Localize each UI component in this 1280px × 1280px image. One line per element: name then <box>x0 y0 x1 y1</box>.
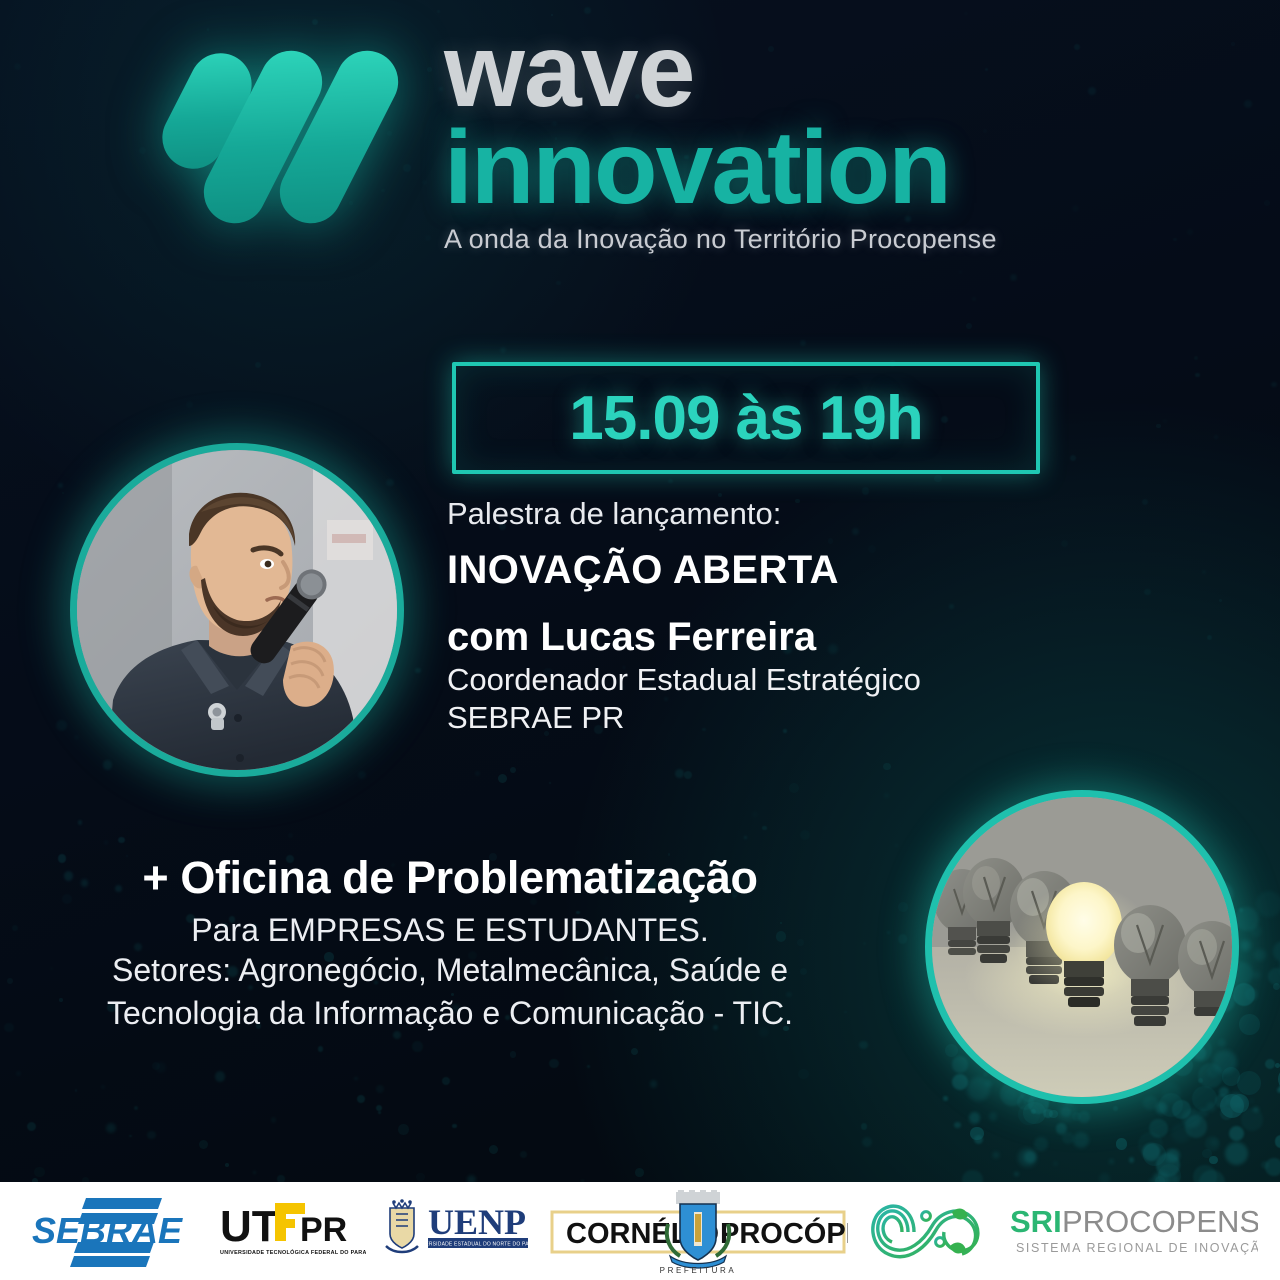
bokeh-dot <box>1215 1094 1229 1108</box>
bokeh-dot <box>1170 1175 1178 1182</box>
bokeh-dot <box>1014 1172 1018 1176</box>
bokeh-dot <box>78 820 83 825</box>
bokeh-dot <box>1158 1164 1181 1182</box>
bokeh-dot <box>1192 1086 1217 1111</box>
bokeh-dot <box>1202 1149 1211 1158</box>
bokeh-dot <box>744 836 747 839</box>
procopense-text: PROCOPENSE <box>1062 1204 1258 1239</box>
talk-speaker: com Lucas Ferreira <box>447 615 1087 660</box>
bokeh-dot <box>549 782 552 785</box>
bokeh-dot <box>1018 1148 1037 1167</box>
bokeh-dot <box>1017 1094 1033 1110</box>
bokeh-dot <box>952 1056 969 1073</box>
bokeh-dot <box>1239 1014 1260 1035</box>
bokeh-dot <box>415 668 421 674</box>
bokeh-dot <box>1256 891 1280 917</box>
bokeh-dot <box>1199 1170 1225 1182</box>
bokeh-dot <box>798 1069 809 1080</box>
bokeh-dot <box>475 771 480 776</box>
bokeh-dot <box>1220 1107 1233 1120</box>
bokeh-dot <box>1249 1099 1253 1103</box>
bokeh-dot <box>1236 1101 1244 1109</box>
prefeitura-caption: PREFEITURA <box>660 1266 737 1275</box>
bokeh-dot <box>631 1048 638 1055</box>
bokeh-dot <box>1239 908 1244 913</box>
cornelio-procopio-logo-icon: CORNÉLIO PROCÓPIO PREFEITURA <box>548 1190 848 1276</box>
talk-role-line2: SEBRAE PR <box>447 700 1087 737</box>
bokeh-dot <box>1268 968 1280 985</box>
bokeh-dot <box>1187 229 1193 235</box>
brand-header: wave innovation A onda da Inovação no Te… <box>168 22 1098 277</box>
bokeh-dot <box>1222 1067 1241 1086</box>
workshop-title: + Oficina de Problematização <box>0 852 900 904</box>
logo-utfpr: UT PR UNIVERSIDADE TECNOLÓGICA FEDERAL D… <box>218 1197 366 1265</box>
bokeh-dot <box>1182 1109 1201 1128</box>
bokeh-dot <box>1142 1143 1160 1161</box>
bokeh-dot <box>1277 1087 1280 1093</box>
bokeh-dot <box>225 1163 229 1167</box>
bokeh-dot <box>895 844 898 847</box>
bokeh-dot <box>1207 1066 1219 1078</box>
bokeh-dot <box>358 771 366 779</box>
bokeh-dot <box>675 769 684 778</box>
bokeh-dot <box>139 147 146 154</box>
bokeh-dot <box>386 479 394 487</box>
uenp-logo-text: UENP <box>428 1202 526 1242</box>
bokeh-dot <box>467 1175 476 1182</box>
bokeh-dot <box>288 833 293 838</box>
bokeh-dot <box>500 347 506 353</box>
uenp-logo-icon: UENP UNIVERSIDADE ESTADUAL DO NORTE DO P… <box>384 1198 532 1260</box>
bokeh-dot <box>1265 1158 1280 1176</box>
bokeh-dot <box>1273 941 1280 962</box>
bokeh-dot <box>884 793 889 798</box>
sebrae-logo-icon: SEBRAE <box>22 1196 192 1268</box>
bokeh-dot <box>118 837 124 843</box>
bokeh-dot <box>156 1062 167 1073</box>
bokeh-dot <box>17 1072 20 1075</box>
bokeh-dot <box>1214 435 1218 439</box>
bokeh-dot <box>650 1080 658 1088</box>
bokeh-dot <box>378 1111 381 1114</box>
talk-block: Palestra de lançamento: INOVAÇÃO ABERTA … <box>447 495 1087 737</box>
bokeh-dot <box>520 1151 527 1158</box>
bokeh-dot <box>134 1106 138 1110</box>
bokeh-dot <box>1235 907 1259 931</box>
bokeh-dot <box>1202 570 1206 574</box>
bokeh-dot <box>255 362 261 368</box>
bokeh-dot <box>1004 1089 1016 1101</box>
bokeh-dot <box>943 1096 947 1100</box>
bokeh-dot <box>1138 1132 1163 1157</box>
bokeh-dot <box>972 297 975 300</box>
bokeh-dot <box>199 1140 209 1150</box>
bokeh-dot <box>1078 1111 1091 1124</box>
brand-tagline: A onda da Inovação no Território Procope… <box>444 224 1104 255</box>
bokeh-dot <box>354 1077 358 1081</box>
bokeh-dot <box>587 1065 590 1068</box>
bokeh-dot <box>1070 455 1076 461</box>
bokeh-dot <box>357 1095 365 1103</box>
bokeh-dot <box>1057 1103 1076 1122</box>
bokeh-dot <box>1024 1151 1036 1163</box>
bokeh-dot <box>14 63 21 70</box>
bokeh-dot <box>416 1173 424 1181</box>
bokeh-dot <box>1237 1071 1261 1095</box>
bokeh-dot <box>1171 1123 1190 1142</box>
bokeh-dot <box>27 1122 37 1132</box>
sri-text: SRI <box>1010 1204 1062 1239</box>
bokeh-dot <box>398 1124 408 1134</box>
bokeh-dot <box>789 783 799 793</box>
bokeh-dot <box>376 1105 382 1111</box>
talk-pre-label: Palestra de lançamento: <box>447 495 1087 534</box>
bokeh-dot <box>1198 1078 1203 1083</box>
utfpr-logo-pr: PR <box>300 1211 347 1249</box>
bokeh-dot <box>1061 1107 1071 1117</box>
bokeh-dot <box>1173 238 1176 241</box>
logo-cornelio-procopio: CORNÉLIO PROCÓPIO PREFEITURA <box>548 1190 848 1276</box>
bokeh-dot <box>954 1122 961 1129</box>
speaker-photo <box>70 443 404 777</box>
bokeh-dot <box>966 323 972 329</box>
bokeh-dot <box>1109 1159 1114 1164</box>
bokeh-dot <box>452 1124 457 1129</box>
bokeh-dot <box>635 1168 644 1177</box>
bokeh-dot <box>962 1170 983 1182</box>
date-badge: 15.09 às 19h <box>452 362 1040 474</box>
bokeh-dot <box>1156 424 1161 429</box>
workshop-audience: Para EMPRESAS E ESTUDANTES. <box>0 912 900 949</box>
bokeh-dot <box>215 1071 225 1081</box>
bokeh-dot <box>58 483 62 487</box>
bokeh-dot <box>1213 1050 1237 1074</box>
sri-procopense-logo-icon: SRI PROCOPENSE SISTEMA REGIONAL DE INOVA… <box>866 1196 1258 1268</box>
bokeh-dot <box>1062 1132 1074 1144</box>
bokeh-dot <box>1219 1087 1229 1097</box>
bokeh-dot <box>1073 1132 1089 1148</box>
bokeh-dot <box>104 840 109 845</box>
bokeh-dot <box>1199 1108 1208 1117</box>
bokeh-dot <box>1207 635 1212 640</box>
sri-caption: SISTEMA REGIONAL DE INOVAÇÃO <box>1016 1241 1258 1255</box>
bokeh-dot <box>800 830 810 840</box>
bokeh-dot <box>277 1175 285 1182</box>
bokeh-dot <box>1129 1157 1134 1162</box>
sebrae-logo-text: SEBRAE <box>32 1210 183 1251</box>
bokeh-dot <box>34 1167 45 1178</box>
bokeh-dot <box>1194 356 1198 360</box>
bokeh-dot <box>1265 1059 1275 1069</box>
bokeh-dot <box>762 826 767 831</box>
bokeh-dot <box>1271 382 1276 387</box>
bokeh-dot <box>1275 1135 1280 1147</box>
bokeh-dot <box>489 1145 498 1154</box>
bokeh-dot <box>883 763 890 770</box>
bokeh-dot <box>1233 983 1256 1006</box>
bokeh-dot <box>1023 1099 1029 1105</box>
utfpr-logo-caption: UNIVERSIDADE TECNOLÓGICA FEDERAL DO PARA… <box>220 1248 366 1256</box>
bokeh-dot <box>1264 200 1270 206</box>
bokeh-dot <box>376 1085 384 1093</box>
lightbulbs-photo <box>925 790 1239 1104</box>
bokeh-dot <box>1185 1115 1208 1138</box>
bokeh-dot <box>1198 1063 1223 1088</box>
bokeh-dot <box>1218 1039 1226 1047</box>
bokeh-dot <box>859 1041 868 1050</box>
bokeh-dot <box>1156 1102 1167 1113</box>
bokeh-dot <box>1252 971 1260 979</box>
bokeh-dot <box>1230 1094 1249 1113</box>
bokeh-dot <box>1211 1140 1216 1145</box>
procopio-text: PROCÓPIO <box>720 1216 848 1250</box>
bokeh-dot <box>1209 1156 1217 1164</box>
wordmark: wave innovation A onda da Inovação no Te… <box>444 22 1104 255</box>
bokeh-dot <box>152 1062 160 1070</box>
bokeh-dot <box>1163 419 1167 423</box>
bokeh-dot <box>993 1152 999 1158</box>
bokeh-dot <box>1244 100 1251 107</box>
bokeh-dot <box>1023 1102 1046 1125</box>
bokeh-dot <box>1099 1173 1110 1182</box>
bokeh-dot <box>1241 1108 1263 1130</box>
bokeh-dot <box>56 720 67 731</box>
bokeh-dot <box>945 1044 958 1057</box>
bokeh-dot <box>271 1117 276 1122</box>
bokeh-dot <box>1144 589 1150 595</box>
bokeh-dot <box>965 12 967 14</box>
bokeh-dot <box>1056 1123 1066 1133</box>
bokeh-dot <box>983 1072 988 1077</box>
bokeh-dot <box>1273 983 1280 990</box>
bokeh-dot <box>1143 1096 1157 1110</box>
bokeh-dot <box>1275 1063 1280 1069</box>
poster-artboard: wave innovation A onda da Inovação no Te… <box>0 0 1280 1182</box>
bokeh-dot <box>147 1131 155 1139</box>
bokeh-dot <box>1018 1104 1040 1126</box>
bokeh-dot <box>106 1123 116 1133</box>
bokeh-dot <box>1162 1083 1181 1102</box>
bokeh-dot <box>1049 1110 1057 1118</box>
bokeh-dot <box>1240 940 1251 951</box>
bokeh-dot <box>1172 1100 1191 1119</box>
bokeh-dot <box>129 1135 131 1137</box>
uenp-logo-caption: UNIVERSIDADE ESTADUAL DO NORTE DO PARANÁ <box>413 1241 532 1248</box>
bokeh-dot <box>684 771 692 779</box>
bokeh-dot <box>1205 1136 1220 1151</box>
bokeh-dot <box>1195 373 1199 377</box>
logo-sri-procopense: SRI PROCOPENSE SISTEMA REGIONAL DE INOVA… <box>866 1196 1258 1268</box>
lightbulbs-illustration <box>932 797 1232 1097</box>
bokeh-dot <box>186 401 193 408</box>
logo-uenp: UENP UNIVERSIDADE ESTADUAL DO NORTE DO P… <box>384 1198 532 1260</box>
bokeh-dot <box>74 735 79 740</box>
bokeh-dot <box>1034 1137 1048 1151</box>
bokeh-dot <box>752 811 758 817</box>
bokeh-dot <box>1072 1112 1081 1121</box>
bokeh-dot <box>510 767 516 773</box>
workshop-sectors-line2: Tecnologia da Informação e Comunicação -… <box>0 992 900 1035</box>
bokeh-dot <box>1156 1153 1180 1177</box>
bokeh-dot <box>1143 1143 1167 1167</box>
talk-title: INOVAÇÃO ABERTA <box>447 548 1087 593</box>
bokeh-dot <box>1159 1093 1183 1117</box>
talk-role-line1: Coordenador Estadual Estratégico <box>447 662 1087 699</box>
poster-root: wave innovation A onda da Inovação no Te… <box>0 0 1280 1280</box>
date-badge-text: 15.09 às 19h <box>569 383 922 454</box>
bokeh-dot <box>862 487 869 494</box>
bokeh-dot <box>1245 988 1259 1002</box>
bokeh-dot <box>1261 1161 1269 1169</box>
speaker-photo-illustration <box>77 450 397 770</box>
bokeh-dot <box>1225 1142 1248 1165</box>
bokeh-dot <box>1206 1102 1216 1112</box>
bokeh-dot <box>967 1077 991 1101</box>
bokeh-dot <box>800 340 806 346</box>
bokeh-dot <box>989 1112 998 1121</box>
bokeh-dot <box>412 1041 423 1052</box>
wordmark-wave: wave <box>444 22 1104 122</box>
bokeh-dot <box>437 10 440 13</box>
bokeh-dot <box>862 1137 872 1147</box>
bokeh-dot <box>934 475 942 483</box>
bokeh-dot <box>1163 1149 1178 1164</box>
bokeh-dot <box>556 281 561 286</box>
bokeh-dot <box>668 479 673 484</box>
bokeh-dot <box>861 1123 868 1130</box>
workshop-block: + Oficina de Problematização Para EMPRES… <box>0 852 900 1035</box>
wordmark-innovation: innovation <box>444 116 1104 220</box>
bokeh-dot <box>970 1127 983 1140</box>
bokeh-dot <box>1193 1165 1217 1182</box>
bokeh-dot <box>1219 599 1222 602</box>
bokeh-dot <box>1031 1109 1036 1114</box>
bokeh-dot <box>1149 1119 1168 1138</box>
bokeh-dot <box>253 1171 256 1174</box>
bokeh-dot <box>101 1085 105 1089</box>
bokeh-dot <box>1053 1161 1058 1166</box>
bokeh-dot <box>1220 1094 1244 1118</box>
bokeh-dot <box>549 1059 559 1069</box>
bokeh-dot <box>62 492 64 494</box>
workshop-sectors-line1: Setores: Agronegócio, Metalmecânica, Saú… <box>0 949 900 992</box>
bokeh-dot <box>75 1089 77 1091</box>
bokeh-dot <box>442 1077 451 1086</box>
bokeh-dot <box>1153 1172 1169 1182</box>
bokeh-dot <box>1229 1126 1245 1142</box>
bokeh-dot <box>1250 925 1262 937</box>
utfpr-logo-icon: UT PR UNIVERSIDADE TECNOLÓGICA FEDERAL D… <box>218 1197 366 1265</box>
bokeh-dot <box>1254 949 1266 961</box>
bokeh-dot <box>1253 1107 1259 1113</box>
bokeh-dot <box>1166 1149 1180 1163</box>
bokeh-dot <box>985 1080 993 1088</box>
bokeh-dot <box>1142 499 1148 505</box>
utfpr-logo-ut: UT <box>220 1202 279 1251</box>
bokeh-dot <box>1231 42 1235 46</box>
bokeh-dot <box>510 1051 516 1057</box>
bokeh-dot <box>1043 1109 1053 1119</box>
bokeh-dot <box>1228 1093 1244 1109</box>
bokeh-dot <box>974 1135 983 1144</box>
wave-w-mark-icon <box>168 30 418 230</box>
bokeh-dot <box>952 1074 968 1090</box>
bokeh-dot <box>1056 1123 1068 1135</box>
bokeh-dot <box>1116 1138 1128 1150</box>
bokeh-dot <box>969 1112 980 1123</box>
bokeh-dot <box>103 760 112 769</box>
bokeh-dot <box>318 1046 324 1052</box>
logo-sebrae: SEBRAE <box>22 1196 192 1268</box>
bokeh-dot <box>498 774 507 783</box>
bokeh-dot <box>1113 1106 1118 1111</box>
